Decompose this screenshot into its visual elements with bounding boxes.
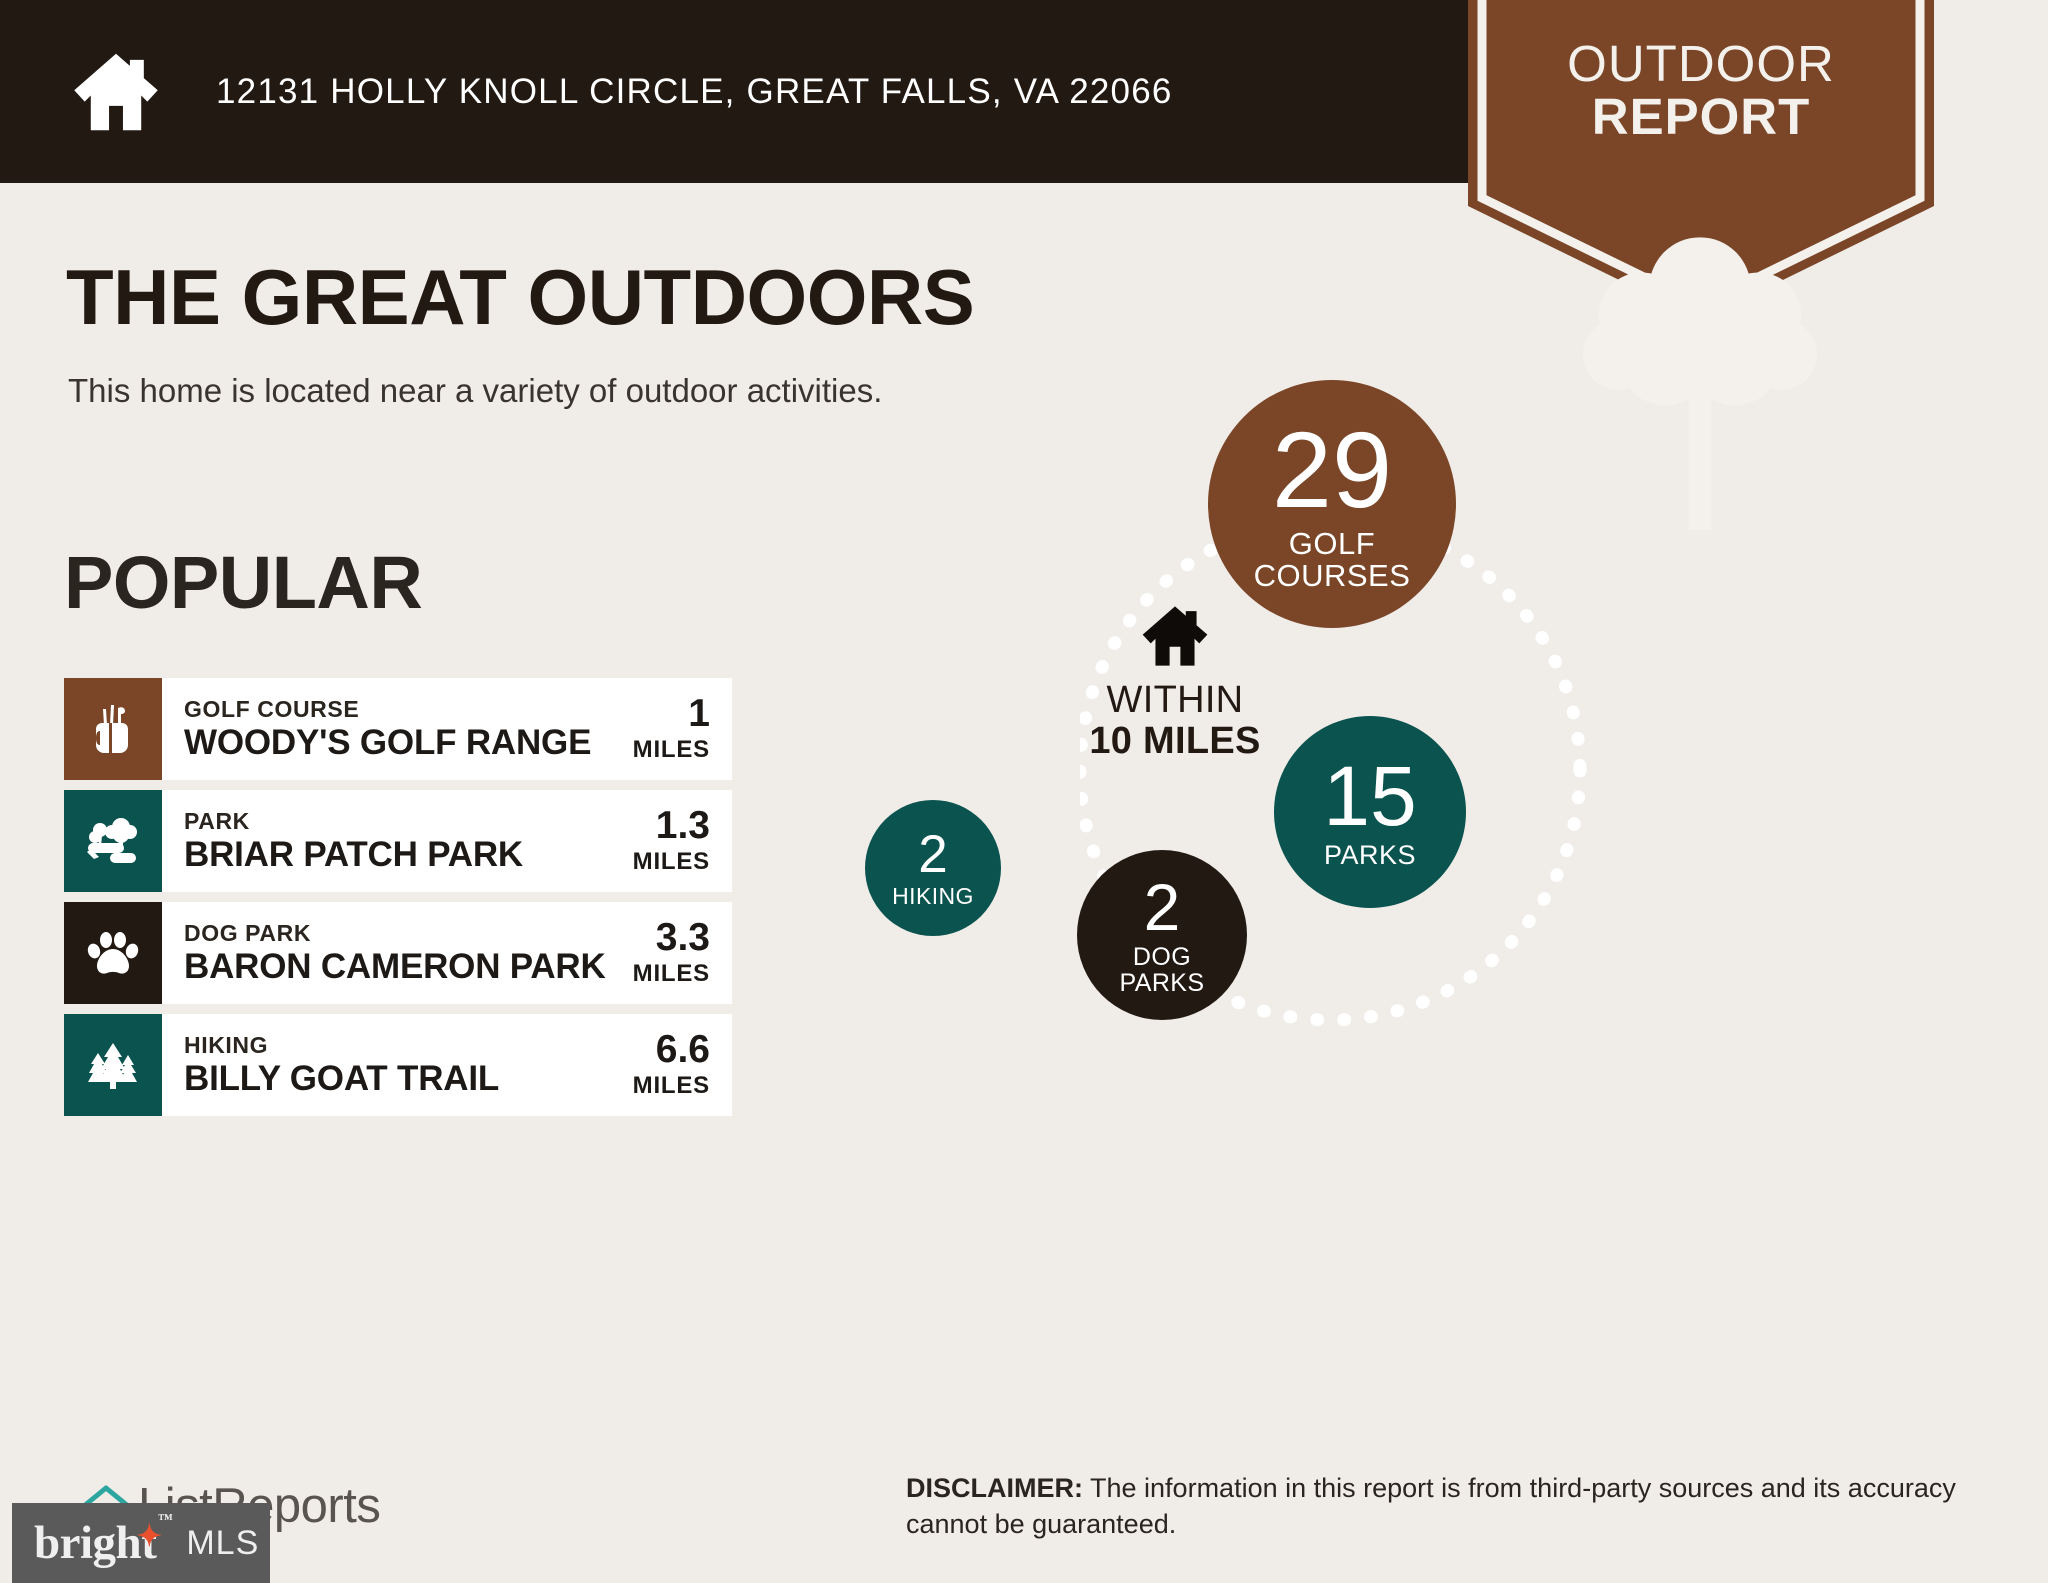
stat-label: PARKS xyxy=(1324,842,1416,870)
poi-distance: 1 MILES xyxy=(633,694,710,764)
poi-category: HIKING xyxy=(184,1032,499,1058)
disclaimer-label: DISCLAIMER: xyxy=(906,1473,1083,1503)
poi-texts: GOLF COURSE WOODY'S GOLF RANGE xyxy=(184,696,591,763)
poi-distance-value: 1.3 xyxy=(656,806,710,845)
poi-icon-tile xyxy=(64,1014,162,1116)
list-item[interactable]: HIKING BILLY GOAT TRAIL 6.6 MILES xyxy=(64,1014,732,1116)
poi-distance: 3.3 MILES xyxy=(633,918,710,988)
stat-label: HIKING xyxy=(892,885,974,908)
list-item[interactable]: PARK BRIAR PATCH PARK 1.3 MILES xyxy=(64,790,732,892)
stat-count: 29 xyxy=(1272,416,1392,524)
poi-texts: DOG PARK BARON CAMERON PARK xyxy=(184,920,606,987)
poi-body: HIKING BILLY GOAT TRAIL 6.6 MILES xyxy=(162,1014,732,1116)
poi-distance-unit: MILES xyxy=(633,1072,710,1100)
stat-label-line1: GOLF xyxy=(1254,528,1411,560)
poi-icon-tile xyxy=(64,902,162,1004)
bright-mls-watermark: bright ✦ ™ MLS xyxy=(12,1503,270,1583)
stat-count: 2 xyxy=(918,828,947,881)
house-icon xyxy=(1141,605,1209,667)
poi-texts: HIKING BILLY GOAT TRAIL xyxy=(184,1032,499,1099)
poi-distance-unit: MILES xyxy=(633,960,710,988)
poi-body: PARK BRIAR PATCH PARK 1.3 MILES xyxy=(162,790,732,892)
poi-distance-value: 1 xyxy=(688,694,710,733)
poi-name: BRIAR PATCH PARK xyxy=(184,836,523,875)
stat-label: GOLF COURSES xyxy=(1254,528,1411,591)
stat-label: DOG PARKS xyxy=(1120,945,1205,996)
within-label: WITHIN xyxy=(1045,681,1305,721)
stat-circle-hiking[interactable]: 2 HIKING xyxy=(865,800,1001,936)
poi-body: DOG PARK BARON CAMERON PARK 3.3 MILES xyxy=(162,902,732,1004)
poi-distance-unit: MILES xyxy=(633,848,710,876)
poi-category: GOLF COURSE xyxy=(184,696,591,722)
stat-count: 15 xyxy=(1323,754,1416,838)
poi-body: GOLF COURSE WOODY'S GOLF RANGE 1 MILES xyxy=(162,678,732,780)
stat-circle-golf-courses[interactable]: 29 GOLF COURSES xyxy=(1208,380,1456,628)
header-bar: 12131 HOLLY KNOLL CIRCLE, GREAT FALLS, V… xyxy=(0,0,1475,183)
stat-label-line1: DOG xyxy=(1120,945,1205,971)
poi-name: BARON CAMERON PARK xyxy=(184,948,606,987)
stat-label-line2: PARKS xyxy=(1120,971,1205,997)
within-10-miles-diagram: 29 GOLF COURSES 15 PARKS 2 DOG PARKS 2 H… xyxy=(1080,470,2000,1090)
popular-list: GOLF COURSE WOODY'S GOLF RANGE 1 MILES xyxy=(64,678,732,1126)
poi-distance-unit: MILES xyxy=(633,736,710,764)
poi-category: PARK xyxy=(184,808,523,834)
poi-distance-value: 3.3 xyxy=(656,918,710,957)
poi-texts: PARK BRIAR PATCH PARK xyxy=(184,808,523,875)
poi-category: DOG PARK xyxy=(184,920,606,946)
page-subtitle: This home is located near a variety of o… xyxy=(68,372,882,410)
mls-wordmark: MLS xyxy=(186,1524,259,1563)
poi-distance: 6.6 MILES xyxy=(633,1030,710,1100)
golf-bag-icon xyxy=(85,701,141,757)
poi-name: WOODY'S GOLF RANGE xyxy=(184,724,591,763)
park-tree-bench-icon xyxy=(85,813,141,869)
poi-icon-tile xyxy=(64,678,162,780)
poi-distance: 1.3 MILES xyxy=(633,806,710,876)
page-title: THE GREAT OUTDOORS xyxy=(66,252,974,343)
within-radius-value: 10 MILES xyxy=(1045,721,1305,763)
poi-distance-value: 6.6 xyxy=(656,1030,710,1069)
popular-heading: POPULAR xyxy=(64,540,422,625)
outdoor-report-badge: OUTDOOR REPORT xyxy=(1468,0,1934,320)
paw-print-icon xyxy=(85,925,141,981)
bright-wordmark: bright ✦ ™ xyxy=(34,1516,156,1570)
stat-count: 2 xyxy=(1144,874,1181,940)
house-icon xyxy=(72,52,160,132)
poi-name: BILLY GOAT TRAIL xyxy=(184,1060,499,1099)
stat-label-line2: COURSES xyxy=(1254,560,1411,592)
list-item[interactable]: DOG PARK BARON CAMERON PARK 3.3 MILES xyxy=(64,902,732,1004)
trademark-symbol: ™ xyxy=(158,1512,173,1529)
poi-icon-tile xyxy=(64,790,162,892)
pine-trees-icon xyxy=(85,1037,141,1093)
list-item[interactable]: GOLF COURSE WOODY'S GOLF RANGE 1 MILES xyxy=(64,678,732,780)
stat-circle-dog-parks[interactable]: 2 DOG PARKS xyxy=(1077,850,1247,1020)
property-address: 12131 HOLLY KNOLL CIRCLE, GREAT FALLS, V… xyxy=(216,72,1173,112)
within-radius-center: WITHIN 10 MILES xyxy=(1045,605,1305,763)
disclaimer: DISCLAIMER: The information in this repo… xyxy=(906,1470,1986,1543)
